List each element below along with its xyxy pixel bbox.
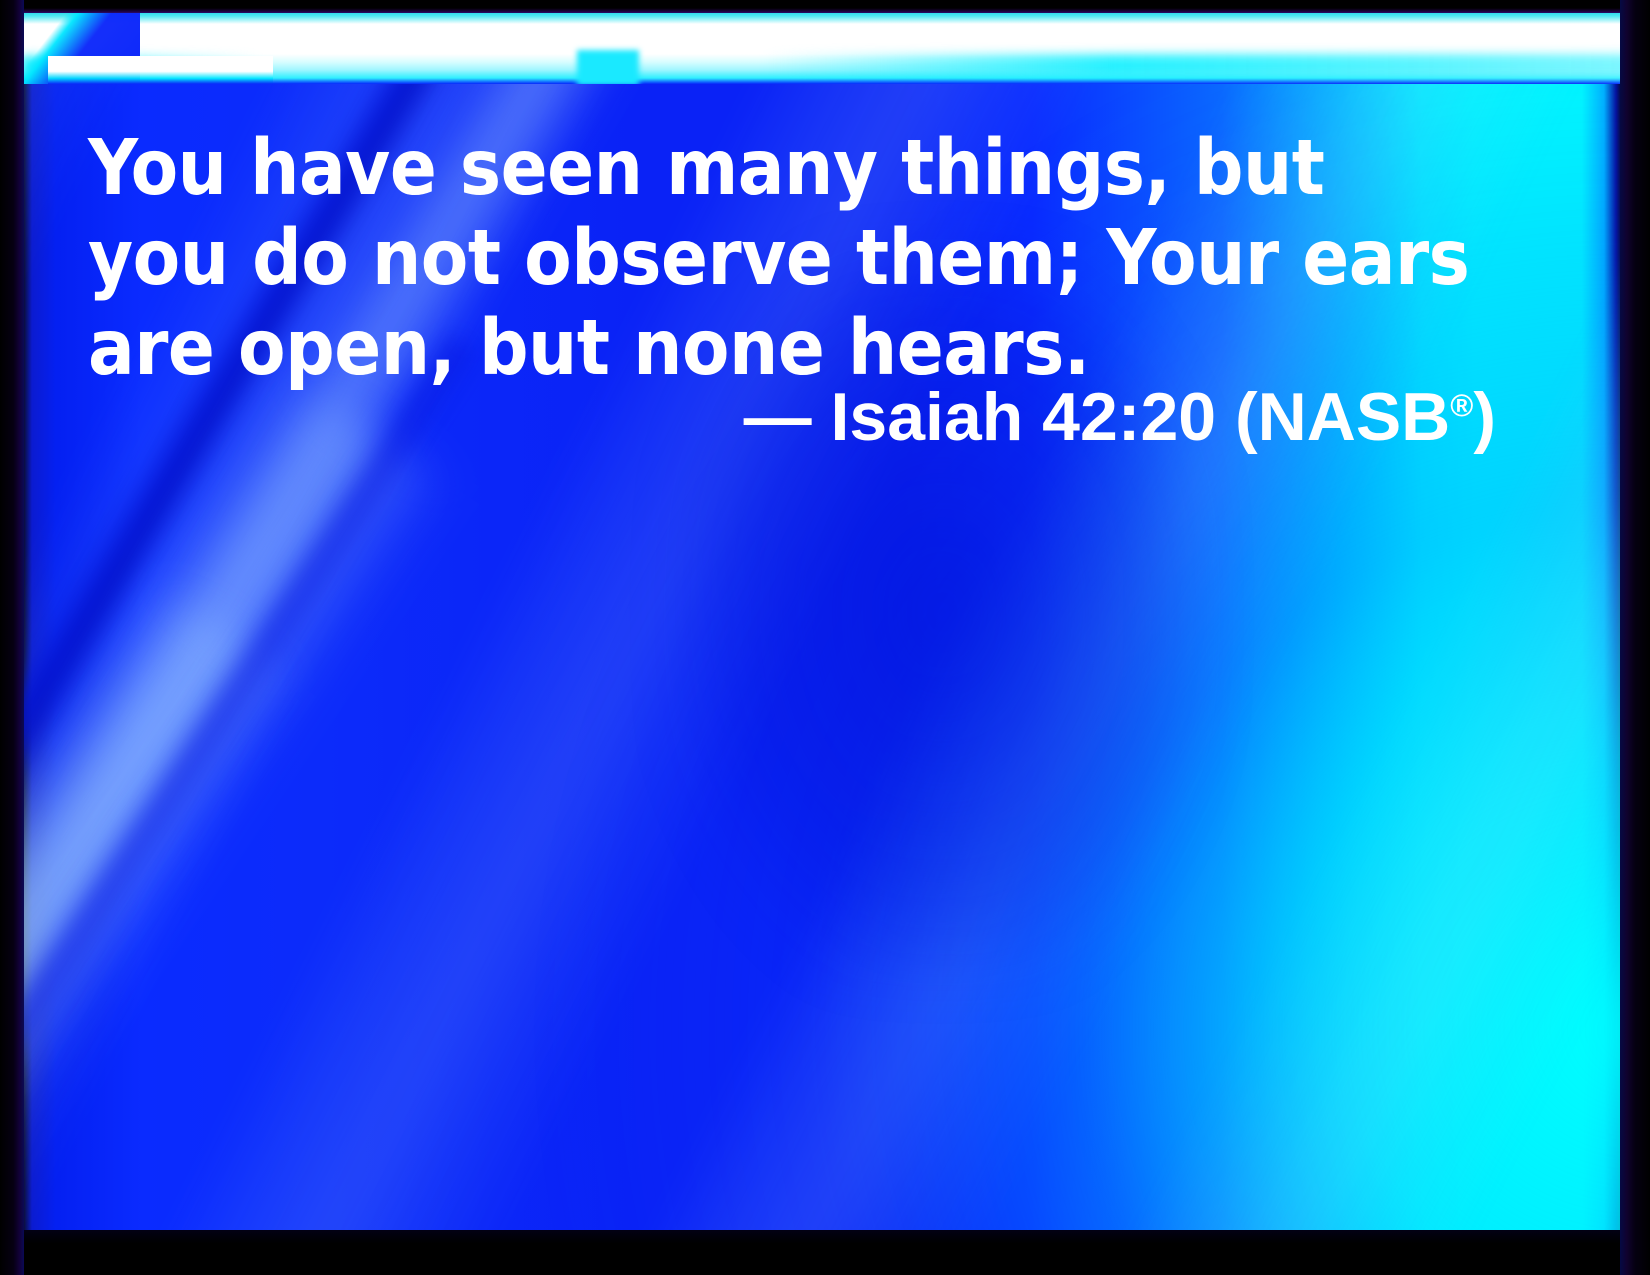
attribution-dash: — xyxy=(744,379,812,455)
verse-slide: You have seen many things, but you do no… xyxy=(0,0,1650,1275)
top-highlight-band xyxy=(22,12,1622,84)
cyan-notch xyxy=(577,50,639,84)
verse-text: You have seen many things, but you do no… xyxy=(88,124,1488,394)
attribution-reference: Isaiah 42:20 (NASB xyxy=(812,379,1451,455)
left-black-border xyxy=(0,0,24,1275)
right-black-border xyxy=(1620,0,1650,1275)
attribution-close-paren: ) xyxy=(1473,379,1496,455)
verse-attribution: — Isaiah 42:20 (NASB®) xyxy=(88,378,1496,456)
top-band-left-wedge-inner xyxy=(48,56,273,84)
registered-trademark-icon: ® xyxy=(1450,389,1473,424)
bottom-black-border xyxy=(0,1230,1650,1275)
top-black-border xyxy=(0,0,1650,13)
cyan-smear-right xyxy=(762,54,1622,76)
